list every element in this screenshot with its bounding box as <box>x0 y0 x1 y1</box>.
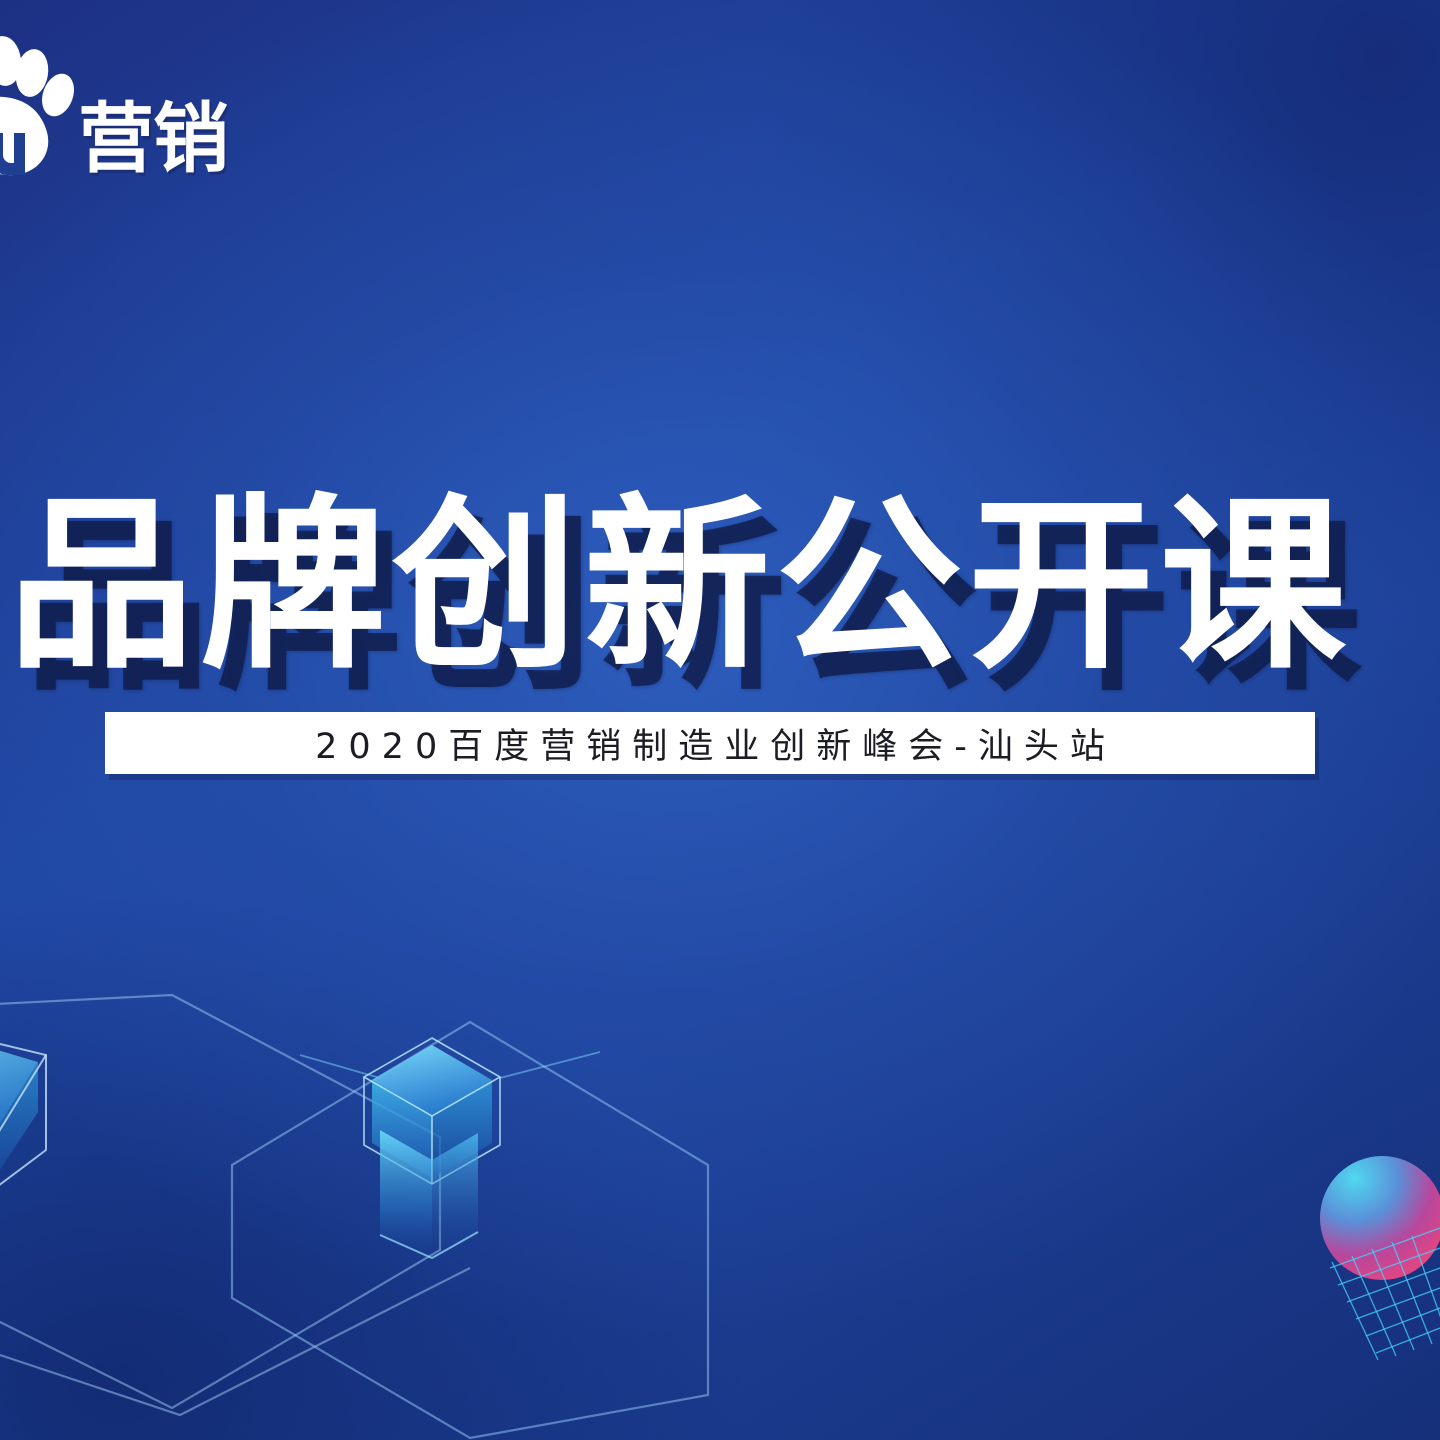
wireframe-mesh-funnel <box>1330 1228 1440 1360</box>
gradient-sphere <box>1320 1156 1440 1280</box>
glowing-cube-center <box>364 1038 500 1184</box>
poster-canvas: 营销 品牌创新公开课 2020百度营销制造业创新峰会-汕头站 <box>0 0 1440 1440</box>
subtitle-text: 2020百度营销制造业创新峰会-汕头站 <box>304 718 1116 769</box>
logo-wordmark: 营销 <box>78 101 228 177</box>
subtitle-banner: 2020百度营销制造业创新峰会-汕头站 <box>105 712 1315 774</box>
connector-lines <box>300 1052 600 1078</box>
headline-block: 品牌创新公开课 <box>0 488 1440 684</box>
light-beam-column <box>380 1130 478 1258</box>
page-title: 品牌创新公开课 <box>0 488 1440 684</box>
baidu-marketing-logo: 营销 <box>0 18 222 183</box>
hexagon-wireframe-left <box>0 995 470 1415</box>
hexagon-wireframe-center <box>232 1022 708 1438</box>
baidu-paw-icon <box>0 33 74 183</box>
glowing-cube-left-edge <box>0 1020 46 1192</box>
